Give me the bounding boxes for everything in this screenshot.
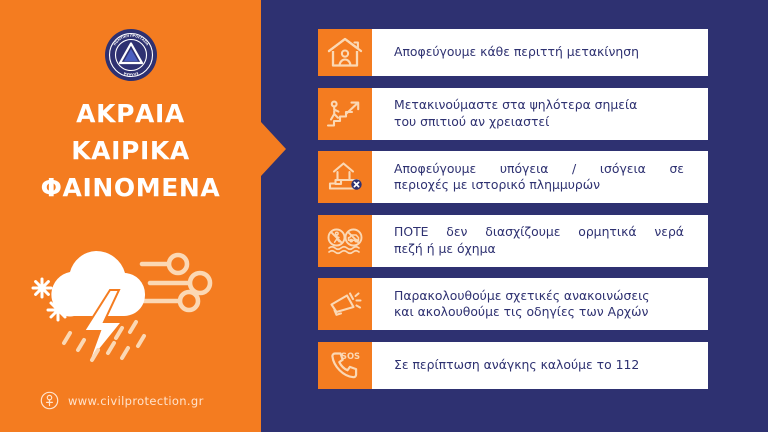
list-item-text: Παρακολουθούμε σχετικές ανακοινώσεις και… <box>372 278 708 330</box>
left-orange-panel: ΠΟΛΙΤΙΚΗ ΠΡΟΣΤΑΣΙΑ ΕΛΛΑΔΑ ΑΚΡΑΙΑ ΚΑΙΡΙΚΑ… <box>0 0 261 432</box>
w: νερά <box>654 224 684 241</box>
list-item-text: Αποφεύγουμε κάθε περιττή μετακίνηση <box>372 29 708 76</box>
instructions-list: Αποφεύγουμε κάθε περιττή μετακίνηση Μετα… <box>318 29 708 389</box>
w: ΠΟΤΕ <box>394 224 428 241</box>
w: ορμητικά <box>578 224 636 241</box>
phone-sos-icon: SOS <box>318 342 372 389</box>
list-item-line: και ακολουθούμε τις οδηγίες των Αρχών <box>394 304 708 321</box>
list-item-line: Αποφεύγουμε υπόγεια / ισόγεια σε <box>394 161 708 178</box>
house-basement-prohibited-icon <box>318 151 372 203</box>
website-url[interactable]: www.civilprotection.gr <box>68 394 204 408</box>
list-item-line: πεζή ή με όχημα <box>394 241 708 258</box>
list-item-line: Σε περίπτωση ανάγκης καλούμε το 112 <box>394 357 708 374</box>
page-title: ΑΚΡΑΙΑ ΚΑΙΡΙΚΑ ΦΑΙΝΟΜΕΝΑ <box>0 95 261 206</box>
list-item-text: Σε περίπτωση ανάγκης καλούμε το 112 <box>372 342 708 389</box>
no-pedestrian-no-vehicle-flood-icon <box>318 215 372 267</box>
civil-protection-globe-icon <box>40 391 59 410</box>
megaphone-icon <box>318 278 372 330</box>
list-item-line: περιοχές με ιστορικό πλημμυρών <box>394 177 708 194</box>
w: υπόγεια <box>500 161 549 178</box>
list-item-text: Αποφεύγουμε υπόγεια / ισόγεια σε περιοχέ… <box>372 151 708 203</box>
list-item-line: του σπιτιού αν χρειαστεί <box>394 114 708 131</box>
title-line-2: ΚΑΙΡΙΚΑ <box>0 132 261 169</box>
list-item[interactable]: SOS Σε περίπτωση ανάγκης καλούμε το 112 <box>318 342 708 389</box>
w: / <box>572 161 576 178</box>
w: δεν <box>446 224 467 241</box>
logo-container: ΠΟΛΙΤΙΚΗ ΠΡΟΣΤΑΣΙΑ ΕΛΛΑΔΑ <box>0 28 261 82</box>
list-item-line: Παρακολουθούμε σχετικές ανακοινώσεις <box>394 288 708 305</box>
list-item-line: Αποφεύγουμε κάθε περιττή μετακίνηση <box>394 44 708 61</box>
civil-protection-emblem-icon: ΠΟΛΙΤΙΚΗ ΠΡΟΣΤΑΣΙΑ ΕΛΛΑΔΑ <box>104 28 158 82</box>
list-item[interactable]: Παρακολουθούμε σχετικές ανακοινώσεις και… <box>318 278 708 330</box>
list-item[interactable]: Μετακινούμαστε στα ψηλότερα σημεία του σ… <box>318 88 708 140</box>
title-line-3: ΦΑΙΝΟΜΕΝΑ <box>0 169 261 206</box>
w: σε <box>669 161 684 178</box>
footer: www.civilprotection.gr <box>40 391 204 410</box>
person-climbing-stairs-up-arrow-icon <box>318 88 372 140</box>
list-item[interactable]: Αποφεύγουμε κάθε περιττή μετακίνηση <box>318 29 708 76</box>
list-item[interactable]: ΠΟΤΕ δεν διασχίζουμε ορμητικά νερά πεζή … <box>318 215 708 267</box>
w: Αποφεύγουμε <box>394 161 476 178</box>
list-item-text: ΠΟΤΕ δεν διασχίζουμε ορμητικά νερά πεζή … <box>372 215 708 267</box>
list-item-text: Μετακινούμαστε στα ψηλότερα σημεία του σ… <box>372 88 708 140</box>
orange-arrow-pointer <box>261 122 286 176</box>
infographic-canvas: ΠΟΛΙΤΙΚΗ ΠΡΟΣΤΑΣΙΑ ΕΛΛΑΔΑ ΑΚΡΑΙΑ ΚΑΙΡΙΚΑ… <box>0 0 768 432</box>
list-item-line: ΠΟΤΕ δεν διασχίζουμε ορμητικά νερά <box>394 224 708 241</box>
storm-weather-illustration-icon <box>22 238 252 378</box>
house-with-person-icon <box>318 29 372 76</box>
title-line-1: ΑΚΡΑΙΑ <box>0 95 261 132</box>
list-item[interactable]: Αποφεύγουμε υπόγεια / ισόγεια σε περιοχέ… <box>318 151 708 203</box>
list-item-line: Μετακινούμαστε στα ψηλότερα σημεία <box>394 97 708 114</box>
sos-badge-text: SOS <box>341 351 360 361</box>
w: ισόγεια <box>600 161 646 178</box>
w: διασχίζουμε <box>485 224 560 241</box>
